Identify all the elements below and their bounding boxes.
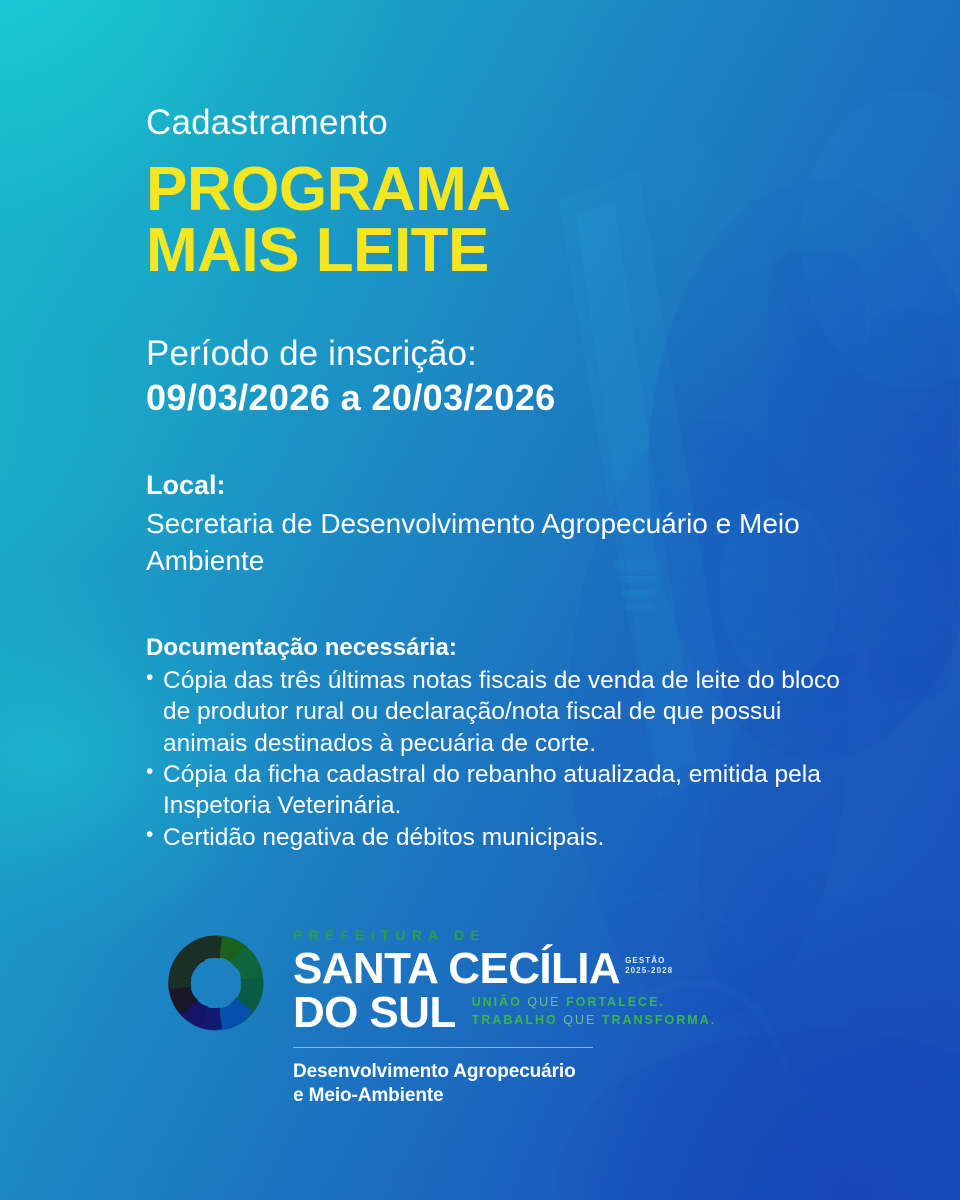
list-item: Cópia das três últimas notas fiscais de …	[146, 665, 846, 759]
slogan-word-trabalho: TRABALHO	[472, 1013, 558, 1027]
department-line-1: Desenvolvimento Agropecuário	[293, 1061, 576, 1082]
gestao-years: 2025-2028	[625, 966, 673, 975]
title-line-1: PROGRAMA	[146, 155, 511, 224]
location-block: Local: Secretaria de Desenvolvimento Agr…	[146, 469, 960, 580]
page-title: PROGRAMA MAIS LEITE	[146, 159, 960, 282]
list-item: Cópia da ficha cadastral do rebanho atua…	[146, 759, 846, 822]
city-name-line-1: SANTA CECÍLIA	[293, 949, 620, 989]
logo-text-lockup: PREFEITURA DE SANTA CECÍLIA GESTÃO 2025-…	[293, 920, 716, 1108]
city-flower-emblem-icon	[155, 922, 277, 1044]
gestao-label: GESTÃO	[625, 956, 665, 965]
period-label: Período de inscrição:	[146, 333, 960, 374]
slogan-word-que-1: QUE	[527, 995, 560, 1009]
city-name-line-2: DO SUL	[293, 992, 456, 1034]
list-item: Certidão negativa de débitos municipais.	[146, 822, 846, 853]
slogan-word-que-2: QUE	[563, 1013, 596, 1027]
slogan-line-1: UNIÃO QUE FORTALECE.	[472, 994, 717, 1011]
poster-canvas: Cadastramento PROGRAMA MAIS LEITE Períod…	[0, 0, 960, 1200]
city-name-row-2: DO SUL UNIÃO QUE FORTALECE. TRABALHO QUE…	[293, 992, 716, 1034]
documents-list: Cópia das três últimas notas fiscais de …	[146, 665, 960, 853]
documents-label: Documentação necessária:	[146, 632, 960, 663]
slogan-word-transforma: TRANSFORMA.	[602, 1013, 716, 1027]
department-line-2: e Meio-Ambiente	[293, 1085, 444, 1106]
prefeitura-label: PREFEITURA DE	[293, 928, 716, 942]
city-name-row-1: SANTA CECÍLIA GESTÃO 2025-2028	[293, 949, 716, 989]
lockup-divider	[293, 1047, 593, 1048]
location-value: Secretaria de Desenvolvimento Agropecuár…	[146, 506, 886, 580]
registration-period-block: Período de inscrição: 09/03/2026 a 20/03…	[146, 333, 960, 419]
footer-logo-lockup: PREFEITURA DE SANTA CECÍLIA GESTÃO 2025-…	[155, 920, 716, 1108]
period-value: 09/03/2026 a 20/03/2026	[146, 377, 960, 419]
slogan-word-uniao: UNIÃO	[472, 995, 522, 1009]
city-slogan: UNIÃO QUE FORTALECE. TRABALHO QUE TRANSF…	[472, 994, 717, 1029]
gestao-badge: GESTÃO 2025-2028	[625, 956, 673, 976]
title-line-2: MAIS LEITE	[146, 220, 960, 281]
location-label: Local:	[146, 469, 960, 503]
slogan-word-fortalece: FORTALECE.	[566, 995, 665, 1009]
kicker-text: Cadastramento	[146, 104, 960, 143]
department-name: Desenvolvimento Agropecuário e Meio-Ambi…	[293, 1060, 716, 1108]
documents-block: Documentação necessária: Cópia das três …	[146, 632, 960, 853]
slogan-line-2: TRABALHO QUE TRANSFORMA.	[472, 1012, 717, 1029]
